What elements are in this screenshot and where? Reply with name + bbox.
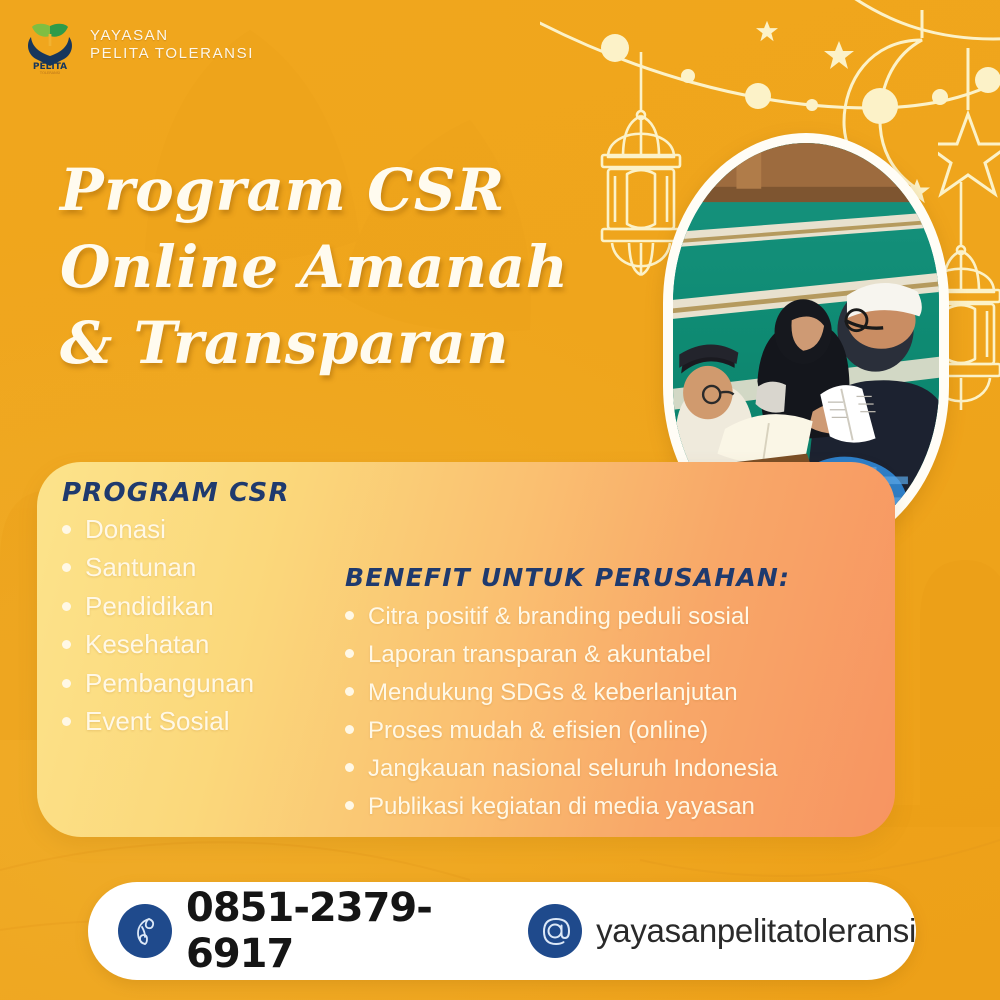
- list-item-label: Pendidikan: [85, 587, 214, 625]
- bullet-dot: [62, 679, 71, 688]
- phone-contact[interactable]: 0851-2379-6917: [118, 885, 440, 977]
- poster-canvas: PELITA TOLERANSI YAYASAN PELITA TOLERANS…: [0, 0, 1000, 1000]
- list-item: Kesehatan: [62, 625, 362, 663]
- instagram-handle: yayasanpelitatoleransi: [596, 912, 916, 950]
- instagram-contact[interactable]: yayasanpelitatoleransi: [528, 904, 916, 958]
- bullet-dot: [345, 763, 354, 772]
- list-item-label: Publikasi kegiatan di media yayasan: [368, 788, 755, 826]
- list-item-label: Mendukung SDGs & keberlanjutan: [368, 674, 738, 712]
- svg-text:TOLERANSI: TOLERANSI: [39, 71, 60, 75]
- list-item: Citra positif & branding peduli sosial: [345, 598, 905, 636]
- list-item: Santunan: [62, 548, 362, 586]
- list-item-label: Pembangunan: [85, 664, 254, 702]
- program-csr-title: PROGRAM CSR: [62, 478, 362, 508]
- list-item: Event Sosial: [62, 702, 362, 740]
- list-item-label: Donasi: [85, 510, 166, 548]
- list-item: Mendukung SDGs & keberlanjutan: [345, 674, 905, 712]
- pelita-plant-in-hands-logo: PELITA TOLERANSI: [22, 14, 78, 76]
- benefit-section: BENEFIT UNTUK PERUSAHAN: Citra positif &…: [345, 563, 905, 825]
- bullet-dot: [345, 687, 354, 696]
- list-item-label: Jangkauan nasional seluruh Indonesia: [368, 750, 778, 788]
- headline-line-3: & Transparan: [60, 305, 580, 382]
- bullet-dot: [62, 525, 71, 534]
- list-item-label: Proses mudah & efisien (online): [368, 712, 708, 750]
- phone-number: 0851-2379-6917: [186, 885, 440, 977]
- bullet-dot: [62, 563, 71, 572]
- bullet-dot: [62, 717, 71, 726]
- list-item: Laporan transparan & akuntabel: [345, 636, 905, 674]
- bullet-dot: [345, 725, 354, 734]
- bullet-dot: [345, 801, 354, 810]
- list-item-label: Laporan transparan & akuntabel: [368, 636, 711, 674]
- list-item: Donasi: [62, 510, 362, 548]
- at-sign-icon: [528, 904, 582, 958]
- bullet-dot: [62, 602, 71, 611]
- phone-handset-icon: [118, 904, 172, 958]
- list-item-label: Citra positif & branding peduli sosial: [368, 598, 750, 636]
- headline-line-1: Program CSR: [60, 152, 580, 229]
- brand-line-1: YAYASAN: [90, 27, 254, 45]
- list-item-label: Event Sosial: [85, 702, 230, 740]
- brand-line-2: PELITA TOLERANSI: [90, 45, 254, 63]
- benefit-title: BENEFIT UNTUK PERUSAHAN:: [345, 563, 905, 592]
- list-item-label: Kesehatan: [85, 625, 209, 663]
- list-item: Publikasi kegiatan di media yayasan: [345, 788, 905, 826]
- program-csr-list: Donasi Santunan Pendidikan Kesehatan Pem…: [62, 510, 362, 741]
- bullet-dot: [62, 640, 71, 649]
- headline-line-2: Online Amanah: [60, 229, 580, 306]
- headline: Program CSR Online Amanah & Transparan: [60, 152, 580, 382]
- list-item: Jangkauan nasional seluruh Indonesia: [345, 750, 905, 788]
- benefit-list: Citra positif & branding peduli sosial L…: [345, 598, 905, 825]
- list-item: Pembangunan: [62, 664, 362, 702]
- brand-header: PELITA TOLERANSI YAYASAN PELITA TOLERANS…: [22, 14, 254, 76]
- list-item-label: Santunan: [85, 548, 196, 586]
- bullet-dot: [345, 611, 354, 620]
- list-item: Pendidikan: [62, 587, 362, 625]
- list-item: Proses mudah & efisien (online): [345, 712, 905, 750]
- contact-bar: 0851-2379-6917 yayasanpelitatoleransi: [88, 882, 916, 980]
- program-csr-section: PROGRAM CSR Donasi Santunan Pendidikan K…: [62, 478, 362, 741]
- bullet-dot: [345, 649, 354, 658]
